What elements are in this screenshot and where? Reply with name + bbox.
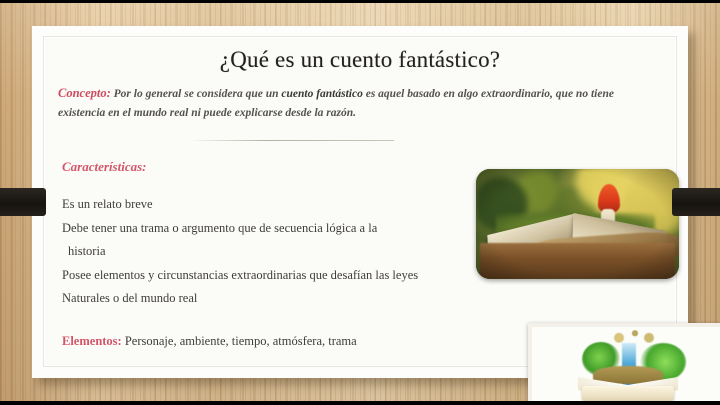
clipart-sparkles [609, 330, 659, 343]
letterbox-top [0, 0, 720, 3]
slide-screenshot: ¿Qué es un cuento fantástico? Concepto: … [0, 0, 720, 405]
concept-emphasis: cuento fantástico [281, 88, 362, 100]
section-divider [194, 140, 394, 141]
list-item: Naturales o del mundo real [62, 287, 666, 311]
concept-text-part1: Por lo general se considera que un [111, 88, 282, 100]
concept-label: Concepto: [58, 86, 111, 100]
overlay-bar-left [0, 188, 46, 216]
photo-vignette [476, 169, 679, 279]
overlay-bar-right [672, 188, 720, 216]
elements-text: Personaje, ambiente, tiempo, atmósfera, … [122, 334, 357, 348]
letterbox-bottom [0, 401, 720, 405]
concept-paragraph: Concepto: Por lo general se considera qu… [58, 84, 660, 123]
slide-card: ¿Qué es un cuento fantástico? Concepto: … [32, 26, 688, 378]
popup-book-clipart [528, 323, 720, 405]
book-mushroom-photo [476, 169, 679, 279]
slide-inner-frame: ¿Qué es un cuento fantástico? Concepto: … [43, 36, 677, 367]
elements-line: Elementos: Personaje, ambiente, tiempo, … [62, 334, 357, 349]
page-title: ¿Qué es un cuento fantástico? [44, 47, 676, 73]
elements-label: Elementos: [62, 334, 122, 348]
characteristics-heading: Características: [62, 159, 147, 175]
